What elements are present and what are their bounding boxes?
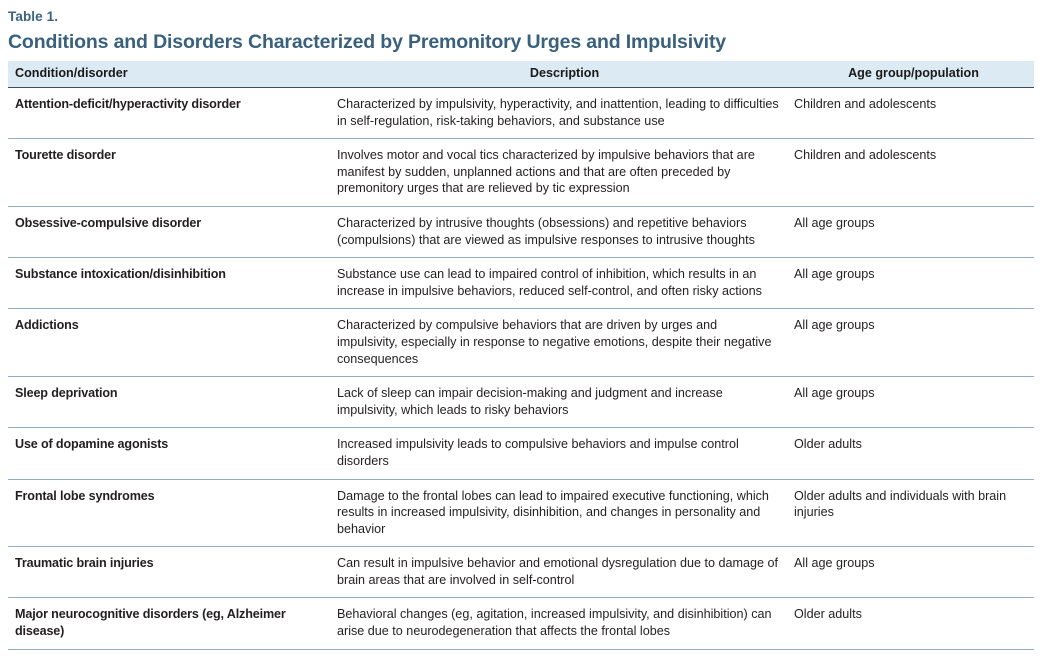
- column-header-description: Description: [336, 61, 793, 88]
- cell-description: Behavioral changes (eg, agitation, incre…: [336, 598, 793, 649]
- cell-condition: Substance intoxication/disinhibition: [8, 258, 336, 309]
- cell-condition: Attention-deficit/hyperactivity disorder: [8, 88, 336, 139]
- cell-condition: Obsessive-compulsive disorder: [8, 206, 336, 257]
- column-header-age-group: Age group/population: [793, 61, 1034, 88]
- table-body: Attention-deficit/hyperactivity disorder…: [8, 88, 1034, 650]
- table-row: Frontal lobe syndromesDamage to the fron…: [8, 479, 1034, 547]
- cell-description: Characterized by intrusive thoughts (obs…: [336, 206, 793, 257]
- cell-description: Characterized by impulsivity, hyperactiv…: [336, 88, 793, 139]
- table-row: Sleep deprivationLack of sleep can impai…: [8, 377, 1034, 428]
- cell-description: Lack of sleep can impair decision-making…: [336, 377, 793, 428]
- cell-age-group: All age groups: [793, 377, 1034, 428]
- cell-description: Can result in impulsive behavior and emo…: [336, 547, 793, 598]
- cell-condition: Sleep deprivation: [8, 377, 336, 428]
- cell-age-group: Older adults: [793, 428, 1034, 479]
- cell-condition: Tourette disorder: [8, 139, 336, 207]
- cell-condition: Use of dopamine agonists: [8, 428, 336, 479]
- cell-description: Substance use can lead to impaired contr…: [336, 258, 793, 309]
- cell-description: Increased impulsivity leads to compulsiv…: [336, 428, 793, 479]
- conditions-table: Condition/disorder Description Age group…: [8, 61, 1034, 650]
- table-header: Condition/disorder Description Age group…: [8, 61, 1034, 88]
- cell-age-group: All age groups: [793, 547, 1034, 598]
- table-row: Substance intoxication/disinhibitionSubs…: [8, 258, 1034, 309]
- cell-description: Characterized by compulsive behaviors th…: [336, 309, 793, 377]
- cell-condition: Traumatic brain injuries: [8, 547, 336, 598]
- cell-age-group: Older adults and individuals with brain …: [793, 479, 1034, 547]
- table-header-row: Condition/disorder Description Age group…: [8, 61, 1034, 88]
- cell-age-group: Children and adolescents: [793, 88, 1034, 139]
- table-row: Tourette disorderInvolves motor and voca…: [8, 139, 1034, 207]
- cell-age-group: All age groups: [793, 258, 1034, 309]
- cell-condition: Major neurocognitive disorders (eg, Alzh…: [8, 598, 336, 649]
- cell-description: Involves motor and vocal tics characteri…: [336, 139, 793, 207]
- cell-age-group: Children and adolescents: [793, 139, 1034, 207]
- cell-age-group: All age groups: [793, 309, 1034, 377]
- table-container: Table 1. Conditions and Disorders Charac…: [0, 0, 1042, 650]
- table-row: AddictionsCharacterized by compulsive be…: [8, 309, 1034, 377]
- cell-description: Damage to the frontal lobes can lead to …: [336, 479, 793, 547]
- table-row: Traumatic brain injuriesCan result in im…: [8, 547, 1034, 598]
- table-row: Use of dopamine agonistsIncreased impuls…: [8, 428, 1034, 479]
- table-row: Major neurocognitive disorders (eg, Alzh…: [8, 598, 1034, 649]
- cell-age-group: All age groups: [793, 206, 1034, 257]
- table-row: Obsessive-compulsive disorderCharacteriz…: [8, 206, 1034, 257]
- table-row: Attention-deficit/hyperactivity disorder…: [8, 88, 1034, 139]
- table-number-label: Table 1.: [8, 0, 1034, 25]
- cell-age-group: Older adults: [793, 598, 1034, 649]
- cell-condition: Addictions: [8, 309, 336, 377]
- table-title: Conditions and Disorders Characterized b…: [8, 25, 1034, 61]
- cell-condition: Frontal lobe syndromes: [8, 479, 336, 547]
- column-header-condition: Condition/disorder: [8, 61, 336, 88]
